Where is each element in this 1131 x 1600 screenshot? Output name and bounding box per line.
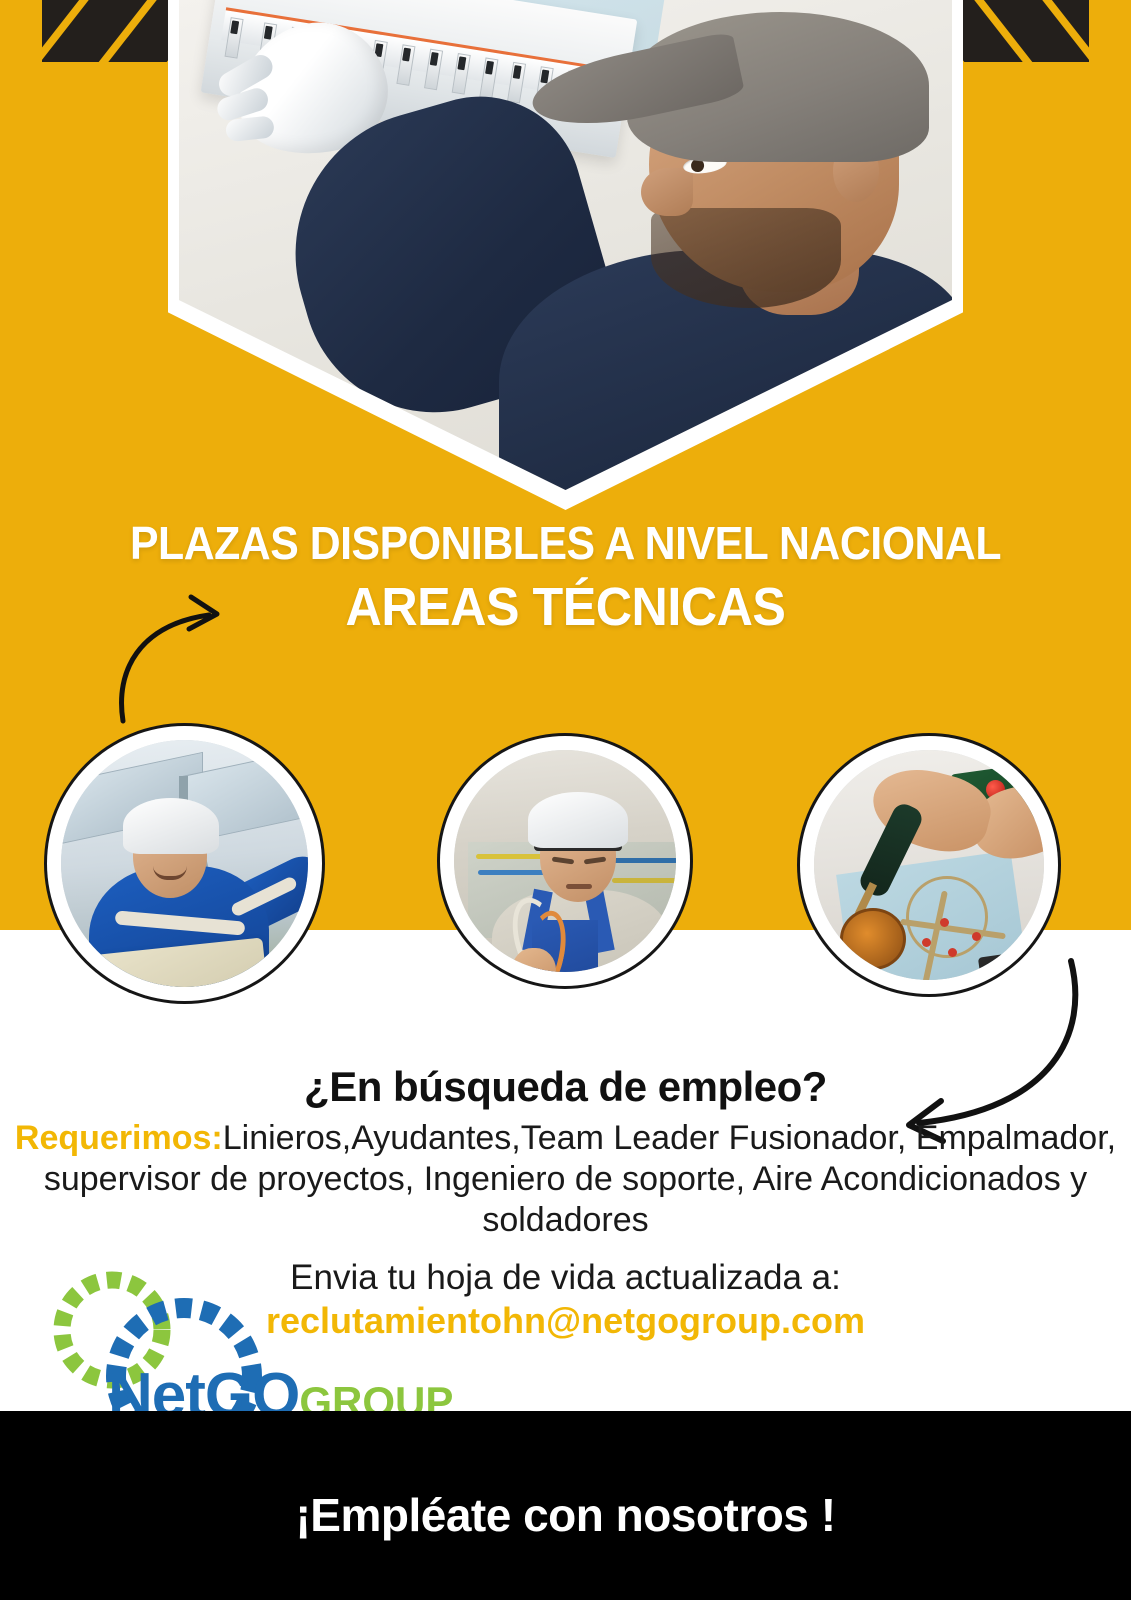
recruitment-poster: PLAZAS DISPONIBLES A NIVEL NACIONAL AREA… xyxy=(0,0,1131,1600)
circle-photo-electrician xyxy=(440,736,690,986)
footer-tagline: ¡Empléate con nosotros ! xyxy=(0,1488,1131,1542)
requirements-block: Requerimos:Linieros,Ayudantes,Team Leade… xyxy=(0,1118,1131,1241)
curved-arrow-up-right-icon xyxy=(105,585,285,725)
curved-arrow-down-left-icon xyxy=(875,955,1085,1145)
requirements-label: Requerimos: xyxy=(15,1119,223,1157)
circle-photo-engineer xyxy=(47,726,322,1001)
headline-line-1: PLAZAS DISPONIBLES A NIVEL NACIONAL xyxy=(40,515,1092,571)
job-seeker-question: ¿En búsqueda de empleo? xyxy=(0,1063,1131,1111)
